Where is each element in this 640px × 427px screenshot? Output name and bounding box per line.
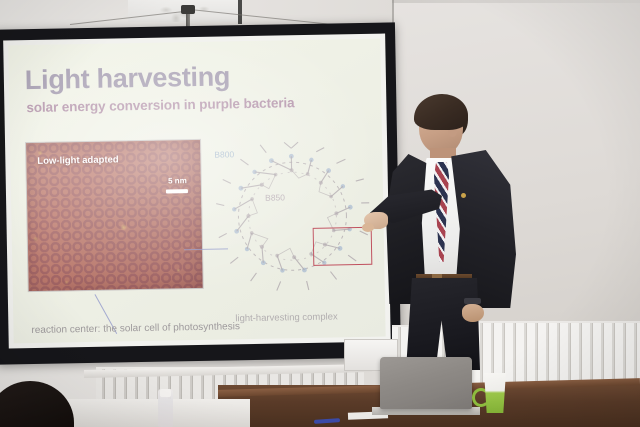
afm-panel-label: Low-light adapted <box>37 154 118 166</box>
screen-mount-head <box>181 5 195 14</box>
afm-scale-bar <box>166 189 188 193</box>
lecture-room-photo: Light harvesting solar energy conversion… <box>0 0 640 427</box>
light-harvesting-complex-caption: light-harvesting complex <box>235 311 338 324</box>
apple-logo-icon <box>419 375 433 391</box>
molecule-label-b800: B800 <box>214 149 234 159</box>
ceiling-line <box>392 0 640 3</box>
lower-hand <box>462 304 484 322</box>
thumb <box>362 223 374 232</box>
bottle-cap <box>160 389 171 397</box>
presentation-slide: Light harvesting solar energy conversion… <box>8 39 385 344</box>
screen-surface: Light harvesting solar energy conversion… <box>3 34 391 349</box>
molecule-highlight-box <box>313 227 373 266</box>
afm-micrograph: Low-light adapted 5 nm <box>26 140 203 291</box>
molecule-label-b850: B850 <box>265 192 285 202</box>
slide-title: Light harvesting <box>25 61 231 96</box>
molecular-structure-diagram: B800 B850 <box>206 135 379 298</box>
reaction-center-caption: reaction center: the solar cell of photo… <box>31 321 240 336</box>
lapel-pin <box>461 193 466 198</box>
hair <box>414 94 468 130</box>
afm-scale-bar-label: 5 nm <box>168 176 187 185</box>
presenter <box>370 92 530 362</box>
window-frame <box>238 0 242 24</box>
slide-subtitle: solar energy conversion in purple bacter… <box>26 95 294 115</box>
projection-screen[interactable]: Light harvesting solar energy conversion… <box>0 22 401 364</box>
